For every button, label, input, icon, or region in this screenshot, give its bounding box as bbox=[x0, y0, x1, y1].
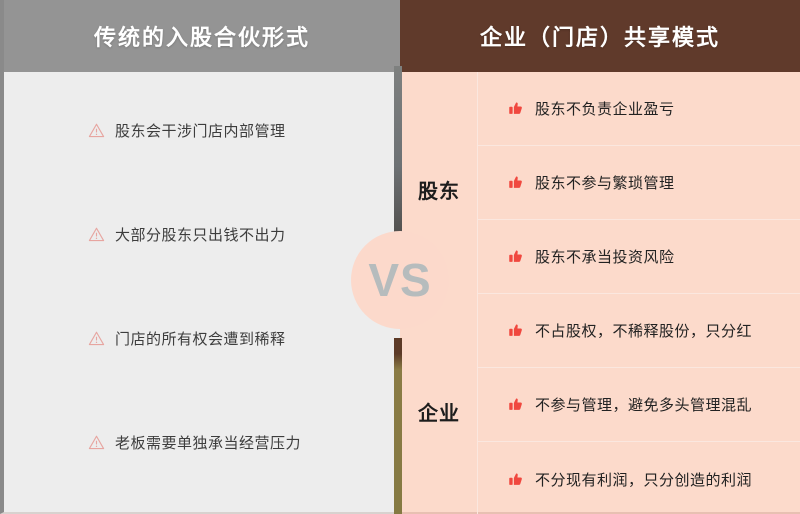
thumbs-up-icon bbox=[508, 323, 523, 338]
list-item-label: 股东会干涉门店内部管理 bbox=[115, 120, 286, 141]
left-header-title: 传统的入股合伙形式 bbox=[94, 20, 310, 52]
vs-badge: VS bbox=[351, 231, 449, 329]
thumbs-up-icon bbox=[508, 249, 523, 264]
comparison-infographic: 传统的入股合伙形式 股东会干涉门店内部管理 大部分股东只出钱不出力 bbox=[0, 0, 800, 514]
thumbs-up-icon bbox=[508, 397, 523, 412]
left-panel-traditional: 传统的入股合伙形式 股东会干涉门店内部管理 大部分股东只出钱不出力 bbox=[0, 0, 400, 514]
group-label-shareholder: 股东 bbox=[400, 175, 478, 204]
list-item: 不分现有利润，只分创造的利润 bbox=[478, 442, 800, 514]
center-divider-bottom bbox=[394, 338, 402, 514]
list-item-label: 老板需要单独承当经营压力 bbox=[115, 432, 301, 453]
thumbs-up-icon bbox=[508, 472, 523, 487]
warning-triangle-icon bbox=[88, 122, 105, 139]
thumbs-up-icon bbox=[508, 175, 523, 190]
list-item: 大部分股东只出钱不出力 bbox=[88, 224, 286, 245]
warning-triangle-icon bbox=[88, 226, 105, 243]
right-panel-header: 企业（门店）共享模式 bbox=[400, 0, 800, 72]
list-item: 门店的所有权会遭到稀释 bbox=[88, 328, 286, 349]
benefit-rows: 股东不负责企业盈亏 股东不参与繁琐管理 股东不承当投资风险 bbox=[478, 72, 800, 514]
left-panel-body: 股东会干涉门店内部管理 大部分股东只出钱不出力 门店的所有权会遭到稀释 bbox=[4, 72, 400, 514]
list-item-label: 不参与管理，避免多头管理混乱 bbox=[535, 394, 752, 415]
list-item-label: 大部分股东只出钱不出力 bbox=[115, 224, 286, 245]
warning-triangle-icon bbox=[88, 330, 105, 347]
list-item-label: 股东不负责企业盈亏 bbox=[535, 98, 675, 119]
left-panel-header: 传统的入股合伙形式 bbox=[4, 0, 400, 72]
list-item: 股东不负责企业盈亏 bbox=[478, 72, 800, 146]
list-item: 不参与管理，避免多头管理混乱 bbox=[478, 368, 800, 442]
list-item-label: 股东不参与繁琐管理 bbox=[535, 172, 675, 193]
warning-triangle-icon bbox=[88, 434, 105, 451]
list-item-label: 不占股权，不稀释股份，只分红 bbox=[535, 320, 752, 341]
list-item: 股东不参与繁琐管理 bbox=[478, 146, 800, 220]
list-item: 股东不承当投资风险 bbox=[478, 220, 800, 294]
list-item: 老板需要单独承当经营压力 bbox=[88, 432, 301, 453]
list-item: 不占股权，不稀释股份，只分红 bbox=[478, 294, 800, 368]
group-label-enterprise: 企业 bbox=[400, 397, 478, 426]
right-header-title: 企业（门店）共享模式 bbox=[480, 20, 720, 52]
list-item-label: 门店的所有权会遭到稀释 bbox=[115, 328, 286, 349]
right-panel-body: 股东 企业 股东不负责企业盈亏 股东不参与繁琐管理 bbox=[400, 72, 800, 514]
vs-label: VS bbox=[368, 257, 431, 303]
list-item-label: 股东不承当投资风险 bbox=[535, 246, 675, 267]
right-panel-shared-mode: 企业（门店）共享模式 股东 企业 股东不负责企业盈亏 bbox=[400, 0, 800, 514]
thumbs-up-icon bbox=[508, 101, 523, 116]
list-item: 股东会干涉门店内部管理 bbox=[88, 120, 286, 141]
center-divider-top bbox=[394, 66, 402, 248]
list-item-label: 不分现有利润，只分创造的利润 bbox=[535, 469, 752, 490]
